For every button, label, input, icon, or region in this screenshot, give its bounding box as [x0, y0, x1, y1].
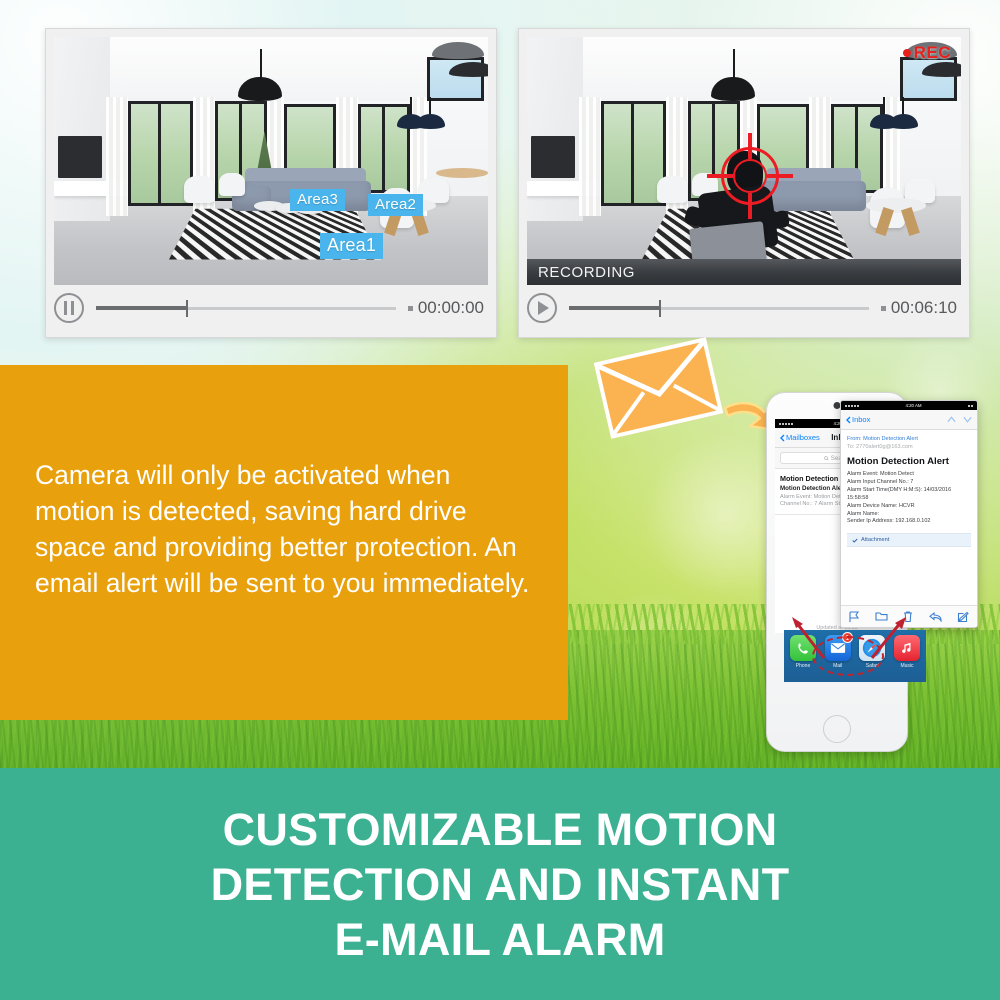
stop-square-icon [881, 306, 886, 311]
headline-text: CUSTOMIZABLE MOTION DETECTION AND INSTAN… [211, 802, 790, 967]
body-line: Alarm Device Name: HCVR [847, 503, 971, 511]
message-header: From: Motion Detection Alert To: 2770ale… [841, 430, 977, 454]
checkmark-icon [852, 538, 858, 543]
motion-area-label: Area3 [297, 191, 338, 208]
envelope-icon [594, 337, 724, 439]
home-button[interactable] [823, 715, 851, 743]
signal-icon [845, 405, 859, 407]
pointer-arrow-icon [868, 616, 908, 662]
ios-status-bar: 4:20 AM [841, 401, 977, 410]
flag-icon[interactable] [849, 611, 860, 623]
feature-description: Camera will only be activated when motio… [35, 457, 530, 601]
chevron-left-icon [780, 434, 785, 442]
attachment-label: Attachment [861, 537, 889, 543]
message-navbar: Inbox [841, 410, 977, 430]
video-screen-live: Area3 Area2 Area1 [54, 37, 488, 285]
progress-fill [96, 306, 186, 310]
message-from: From: Motion Detection Alert [847, 435, 971, 443]
play-icon [538, 301, 549, 315]
message-body: Alarm Event: Motion Detect Alarm Input C… [841, 471, 977, 526]
body-line: Alarm Input Channel No.: 7 [847, 479, 971, 487]
signal-icon [779, 423, 793, 425]
dock-app-label: Music [893, 663, 921, 669]
motion-area-label: Area1 [327, 235, 376, 255]
phone-message-screen: 4:20 AM Inbox From: Motion Detection Ale… [840, 400, 978, 628]
back-label: Inbox [852, 415, 870, 424]
body-line: Sender Ip Address: 192.168.0.102 [847, 518, 971, 526]
battery-icon [968, 405, 973, 407]
back-label: Mailboxes [786, 433, 820, 442]
rec-label: REC [914, 43, 951, 63]
message-title: Motion Detection Alert [841, 454, 977, 471]
video-player-live: Area3 Area2 Area1 00:00:00 [45, 28, 497, 338]
living-room-scene [54, 37, 488, 285]
headline-line-1: CUSTOMIZABLE MOTION [211, 802, 790, 857]
chevron-down-icon[interactable] [963, 416, 972, 423]
recording-status-bar: RECORDING [527, 259, 961, 285]
compose-icon[interactable] [957, 611, 969, 623]
feature-panel: Camera will only be activated when motio… [0, 365, 568, 720]
phone-dock-area: Phone 1 Mail Safari Music [784, 630, 926, 702]
message-toolbar [841, 605, 977, 627]
stop-square-icon [408, 306, 413, 311]
message-to: To: 2770alert0g@163.com [847, 443, 971, 451]
progress-handle[interactable] [186, 300, 188, 317]
progress-fill [569, 306, 659, 310]
video-player-recording: REC RECORDING 00:06:10 [518, 28, 970, 338]
progress-track[interactable] [569, 307, 869, 310]
infographic-canvas: Area3 Area2 Area1 00:00:00 [0, 0, 1000, 1000]
back-to-mailboxes-button[interactable]: Mailboxes [780, 433, 820, 442]
play-button[interactable] [527, 293, 557, 323]
body-line: Alarm Name: [847, 511, 971, 519]
chevron-left-icon [846, 416, 851, 424]
player-controls-recording: 00:06:10 [527, 285, 961, 331]
rec-indicator: REC [903, 43, 951, 63]
dock-app-label: Phone [789, 663, 817, 669]
reply-icon[interactable] [929, 612, 942, 622]
motion-area-tag[interactable]: Area3 [290, 189, 345, 211]
body-line: 15:58:58 [847, 495, 971, 503]
pointer-arrow-icon [790, 616, 830, 662]
pause-icon [64, 301, 74, 315]
status-time: 4:20 AM [905, 403, 921, 408]
back-to-inbox-button[interactable]: Inbox [846, 415, 870, 424]
search-icon [824, 456, 829, 461]
progress-track[interactable] [96, 307, 396, 310]
player-controls-live: 00:00:00 [54, 285, 488, 331]
chevron-up-icon[interactable] [947, 416, 956, 423]
headline-banner: CUSTOMIZABLE MOTION DETECTION AND INSTAN… [0, 768, 1000, 1000]
headline-line-2: DETECTION AND INSTANT [211, 857, 790, 912]
recording-status-label: RECORDING [538, 264, 635, 281]
crosshair-target [707, 133, 793, 219]
timestamp-live: 00:00:00 [408, 298, 488, 318]
attachment-row[interactable]: Attachment [847, 533, 971, 547]
pause-button[interactable] [54, 293, 84, 323]
timestamp-value: 00:06:10 [891, 298, 957, 318]
motion-area-label: Area2 [375, 196, 416, 213]
motion-area-tag[interactable]: Area1 [320, 233, 383, 259]
timestamp-value: 00:00:00 [418, 298, 484, 318]
body-line: Alarm Event: Motion Detect [847, 471, 971, 479]
record-dot-icon [903, 49, 911, 57]
body-line: Alarm Start Time(DMY H:M:S): 14/03/2016 [847, 487, 971, 495]
headline-line-3: E-MAIL ALARM [211, 912, 790, 967]
progress-handle[interactable] [659, 300, 661, 317]
timestamp-recording: 00:06:10 [881, 298, 961, 318]
motion-area-tag[interactable]: Area2 [368, 194, 423, 216]
message-nav-arrows [947, 416, 972, 423]
video-screen-recording: REC RECORDING [527, 37, 961, 285]
